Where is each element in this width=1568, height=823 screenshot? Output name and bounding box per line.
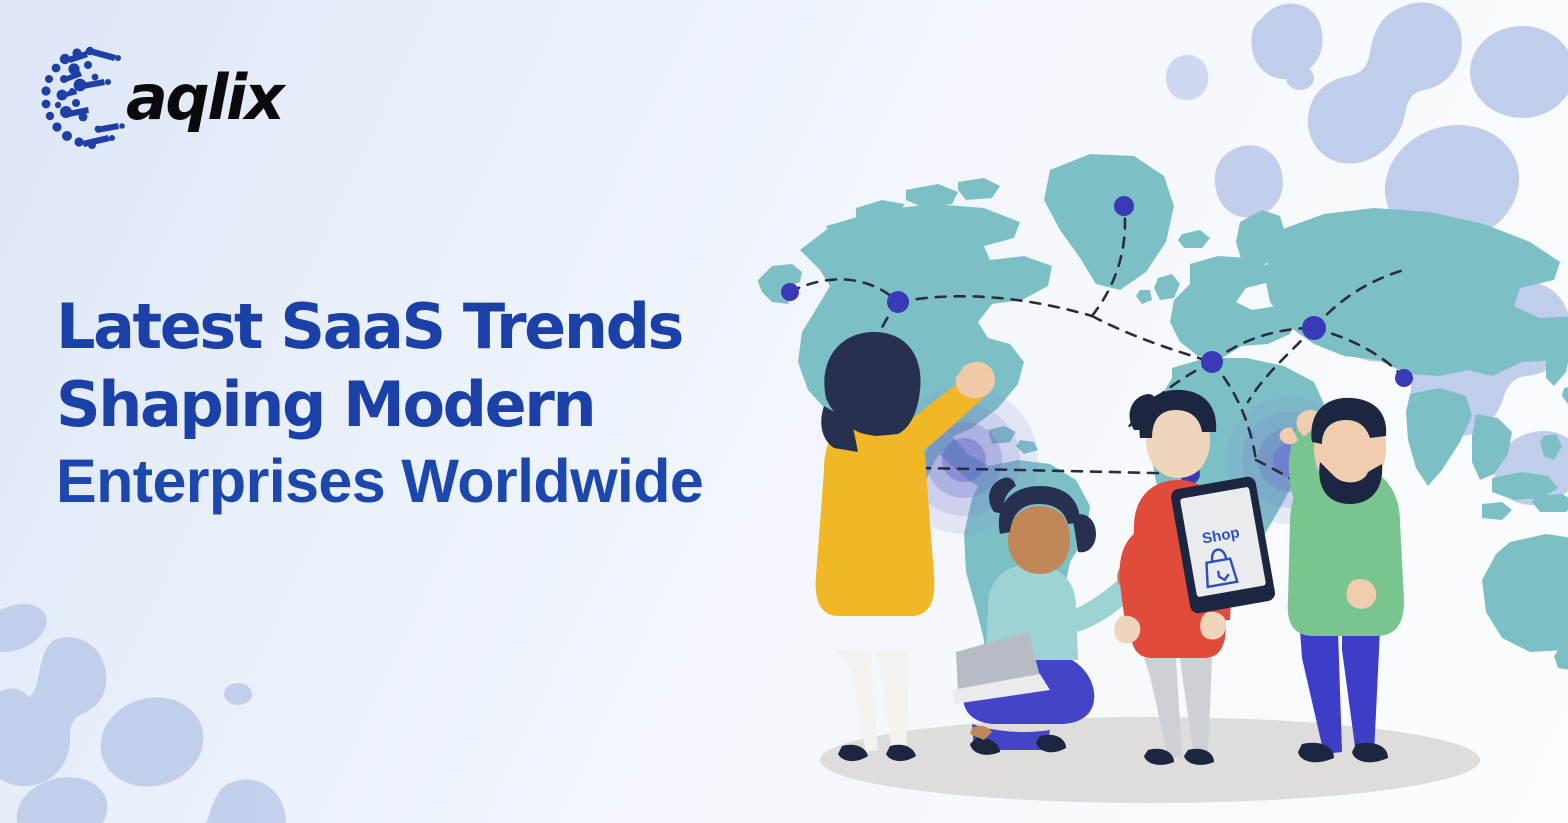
brand-name: aqlix bbox=[126, 67, 282, 129]
node-dot-europe bbox=[1201, 351, 1223, 373]
hero-banner: aqlix Latest SaaS Trends Shaping Modern … bbox=[0, 0, 1568, 823]
node-dot-east-asia bbox=[1395, 369, 1413, 387]
figure-bearded-man-pointing bbox=[1280, 398, 1404, 762]
node-dot-alaska bbox=[781, 283, 799, 301]
node-dot-central-asia bbox=[1302, 316, 1326, 340]
brand-logo[interactable]: aqlix bbox=[38, 44, 273, 152]
dotted-globe-icon bbox=[38, 45, 134, 151]
node-dot-greenland bbox=[1114, 196, 1134, 216]
node-dot-north-america bbox=[887, 291, 909, 313]
blob-group-bottom-left bbox=[0, 595, 286, 823]
global-saas-network-illustration: Shop bbox=[720, 130, 1568, 810]
